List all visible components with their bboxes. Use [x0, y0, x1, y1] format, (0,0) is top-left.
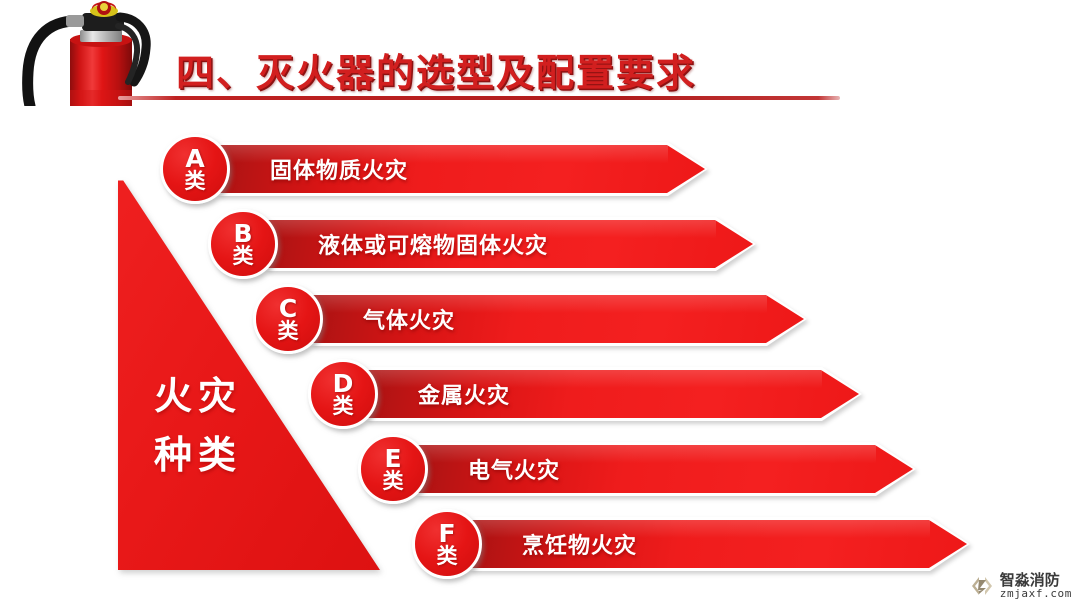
badge-suffix: 类: [383, 471, 404, 492]
fire-class-label: 金属火灾: [418, 378, 510, 410]
badge-suffix: 类: [437, 546, 458, 567]
fire-class-badge-c[interactable]: C 类: [253, 284, 323, 354]
watermark-text: 智淼消防 zmjaxf.com: [1000, 573, 1072, 600]
badge-letter: D: [333, 371, 354, 397]
badge-suffix: 类: [185, 171, 206, 192]
fire-class-label: 固体物质火灾: [270, 153, 408, 185]
fire-class-label: 气体火灾: [363, 303, 455, 335]
fire-class-badge-a[interactable]: A 类: [160, 134, 230, 204]
badge-letter: C: [279, 296, 297, 322]
watermark-name: 智淼消防: [1000, 573, 1072, 589]
fire-class-row: 金属火灾 D 类: [308, 359, 888, 429]
badge-suffix: 类: [333, 396, 354, 417]
badge-suffix: 类: [233, 246, 254, 267]
fire-class-label: 烹饪物火灾: [522, 528, 637, 560]
badge-letter: E: [384, 446, 401, 472]
fire-class-row: 气体火灾 C 类: [253, 284, 823, 354]
watermark-url: zmjaxf.com: [1000, 588, 1072, 600]
fire-class-row: 液体或可熔物固体火灾 B 类: [208, 209, 778, 279]
fire-class-diagram: 火灾 种类 固体物质火灾 A 类 液体或可熔物固体火灾: [0, 112, 1080, 608]
fire-class-badge-f[interactable]: F 类: [412, 509, 482, 579]
zm-logo-icon: [969, 573, 995, 599]
badge-letter: A: [185, 146, 204, 172]
fire-class-label: 电气火灾: [468, 453, 560, 485]
fire-class-row: 固体物质火灾 A 类: [160, 134, 720, 204]
fire-class-badge-b[interactable]: B 类: [208, 209, 278, 279]
badge-suffix: 类: [278, 321, 299, 342]
fire-class-row: 烹饪物火灾 F 类: [412, 509, 1002, 579]
badge-letter: B: [233, 221, 252, 247]
fire-class-label: 液体或可熔物固体火灾: [318, 228, 548, 260]
slide-canvas: 四、灭火器的选型及配置要求 火灾 种类 固体物质火灾 A 类: [0, 0, 1080, 608]
watermark: 智淼消防 zmjaxf.com: [969, 573, 1072, 600]
fire-extinguisher-icon: [8, 0, 178, 106]
slide-header: 四、灭火器的选型及配置要求: [0, 0, 1080, 112]
page-title: 四、灭火器的选型及配置要求: [176, 42, 696, 97]
fire-class-badge-d[interactable]: D 类: [308, 359, 378, 429]
title-underline: [118, 96, 840, 100]
fire-class-row: 电气火灾 E 类: [358, 434, 948, 504]
fire-class-badge-e[interactable]: E 类: [358, 434, 428, 504]
badge-letter: F: [438, 521, 455, 547]
